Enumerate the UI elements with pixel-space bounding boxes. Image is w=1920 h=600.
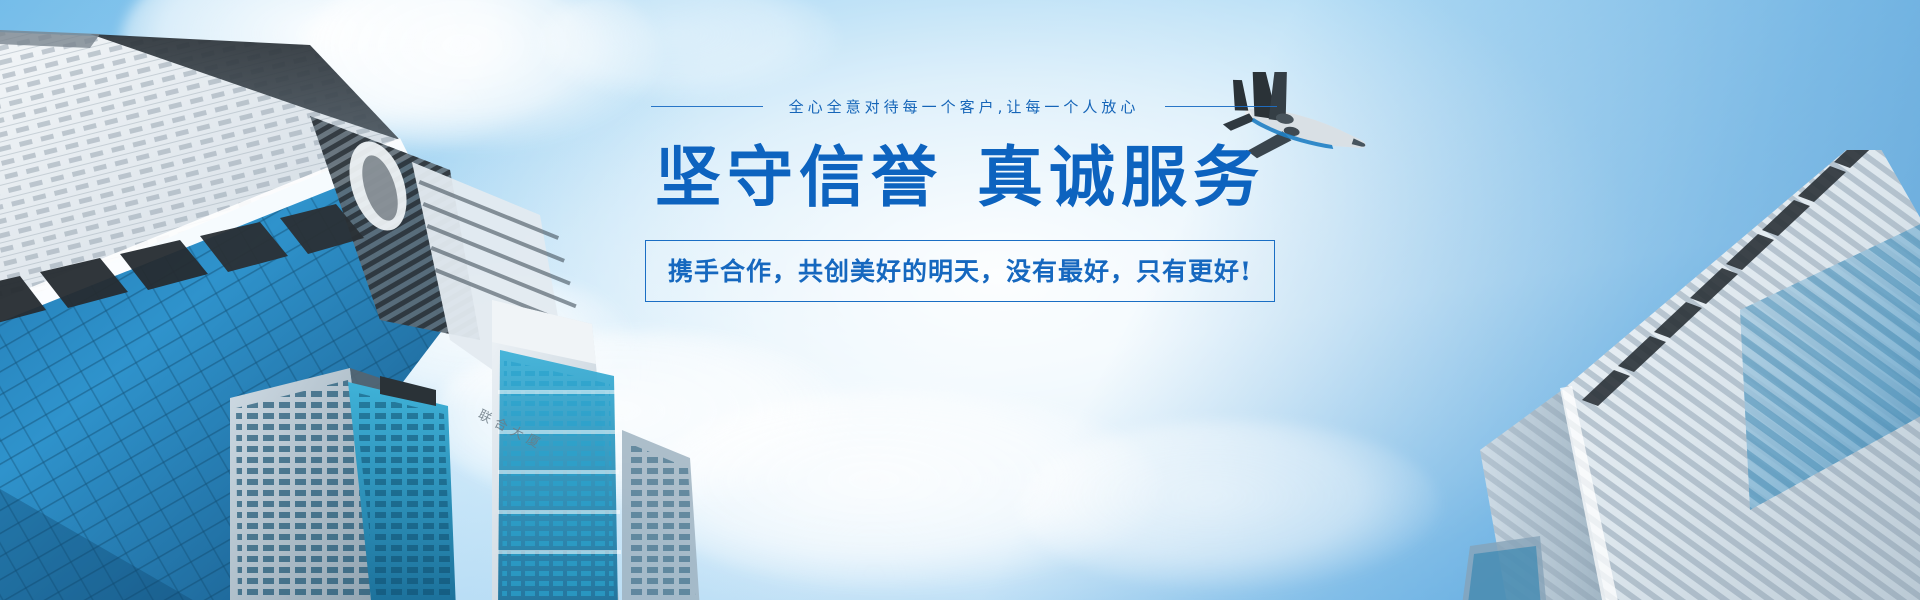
tagline-rule-right (1165, 106, 1277, 107)
page-title: 坚守信誉真诚服务 (655, 143, 1265, 212)
hero-banner: 联合大厦 (0, 0, 1920, 600)
tagline-rule-left (651, 106, 763, 107)
cloud (1020, 420, 1440, 590)
tagline-text: 全心全意对待每一个客户,让每一个人放心 (789, 96, 1140, 117)
cloud (640, 390, 1160, 590)
cloud (540, 0, 840, 100)
tagline-row: 全心全意对待每一个客户,让每一个人放心 (651, 96, 1278, 117)
building-signage-label: 联合大厦 (475, 404, 548, 454)
cloud (430, 330, 850, 510)
cloud (0, 430, 320, 600)
headline-part-2: 真诚服务 (977, 138, 1265, 216)
skyscraper-mid-icon (230, 280, 790, 600)
banner-content: 全心全意对待每一个客户,让每一个人放心 坚守信誉真诚服务 携手合作，共创美好的明… (0, 96, 1920, 302)
headline-part-1: 坚守信誉 (655, 138, 943, 216)
subtitle-text: 携手合作，共创美好的明天，没有最好，只有更好! (668, 257, 1252, 286)
subtitle-box: 携手合作，共创美好的明天，没有最好，只有更好! (645, 240, 1275, 302)
